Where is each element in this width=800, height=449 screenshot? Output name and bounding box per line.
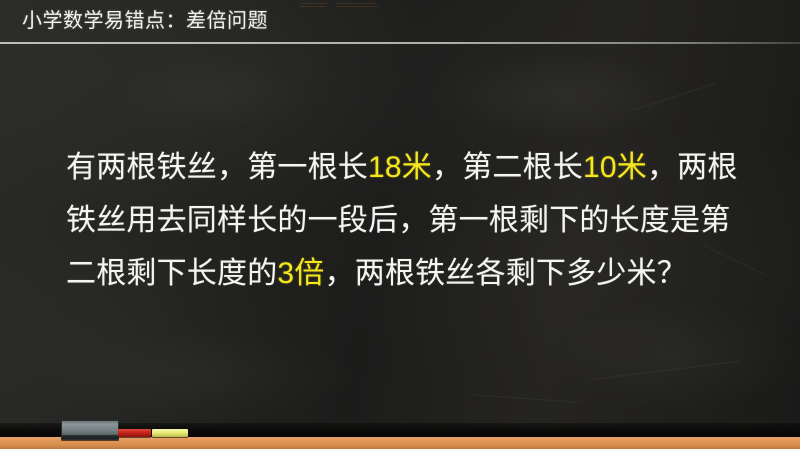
highlighted-value: 18米 bbox=[368, 151, 432, 184]
chalk-smudge bbox=[50, 330, 350, 420]
chalk-smudge bbox=[120, 60, 300, 130]
slide-header: 小学数学易错点：差倍问题 bbox=[0, 0, 800, 43]
problem-text-run: ，两根铁丝各剩下多少米？ bbox=[325, 257, 687, 290]
eraser-felt bbox=[62, 435, 118, 439]
ledge-grain bbox=[336, 3, 376, 4]
blackboard-eraser[interactable] bbox=[61, 420, 119, 440]
ledge-grain bbox=[300, 3, 328, 4]
yellow-chalk[interactable] bbox=[152, 429, 188, 437]
chalk-scratch bbox=[632, 82, 718, 111]
problem-text-run: ，第二根长 bbox=[432, 151, 583, 184]
chalk-scratch bbox=[470, 394, 580, 403]
header-divider bbox=[0, 42, 800, 44]
problem-text-run: 有两根铁丝，第一根长 bbox=[66, 151, 368, 184]
chalk-smudge bbox=[560, 300, 790, 410]
ledge-grain bbox=[336, 6, 378, 7]
highlighted-value: 10米 bbox=[583, 151, 647, 184]
chalk-smudge bbox=[430, 50, 690, 140]
chalk-scratch bbox=[590, 361, 739, 380]
ledge-grain bbox=[300, 6, 326, 7]
chalk-ledge bbox=[0, 437, 800, 449]
problem-statement: 有两根铁丝，第一根长18米，第二根长10米，两根铁丝用去同样长的一段后，第一根剩… bbox=[66, 141, 756, 300]
highlighted-value: 3倍 bbox=[277, 257, 324, 290]
red-chalk[interactable] bbox=[118, 429, 151, 437]
page-title: 小学数学易错点：差倍问题 bbox=[22, 9, 268, 33]
slide-blackboard: 小学数学易错点：差倍问题 有两根铁丝，第一根长18米，第二根长10米，两根铁丝用… bbox=[0, 0, 800, 449]
